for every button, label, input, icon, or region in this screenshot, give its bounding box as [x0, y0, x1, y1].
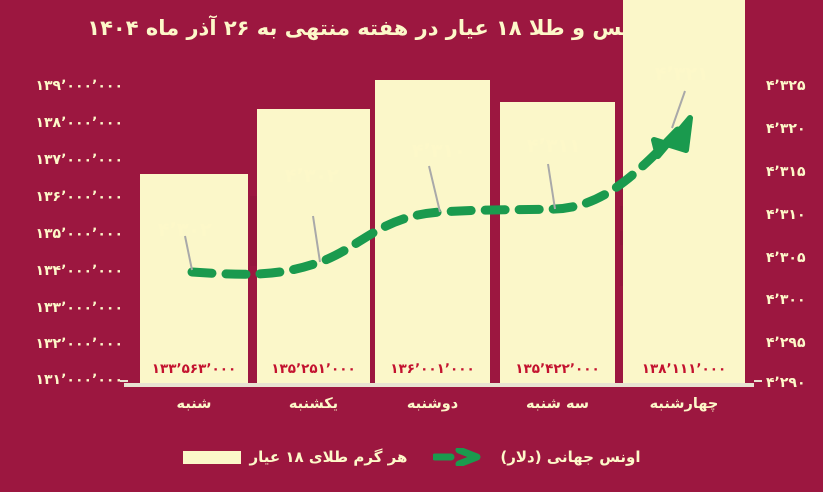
right-axis-tick-5: ۴٬۳۰۰ [766, 292, 806, 308]
legend-arrow-icon [433, 448, 491, 466]
axis-baseline [124, 383, 754, 387]
left-axis-tick-1: ۱۳۸٬۰۰۰٬۰۰۰ [35, 115, 123, 131]
left-axis-tick-0: ۱۳۹٬۰۰۰٬۰۰۰ [35, 78, 123, 94]
category-label-tuesday: سه شنبه [500, 396, 615, 412]
left-axis-tick-7: ۱۳۲٬۰۰۰٬۰۰۰ [35, 336, 123, 352]
left-axis-tick-4: ۱۳۵٬۰۰۰٬۰۰۰ [35, 226, 123, 242]
legend-arrowhead [459, 450, 477, 464]
legend-label-ounce: اونس جهانی (دلار) [500, 448, 640, 466]
left-axis-tick-5: ۱۳۴٬۰۰۰٬۰۰۰ [35, 263, 123, 279]
legend-item-ounce[interactable]: اونس جهانی (دلار) [433, 448, 640, 466]
right-axis-tick-1: ۴٬۳۲۰ [766, 121, 806, 137]
leader-line-tuesday [548, 164, 555, 209]
left-axis-tick-8: ۱۳۱٬۰۰۰٬۰۰۰ [35, 372, 123, 388]
category-label-wednesday: چهارشنبه [623, 396, 745, 412]
right-axis-tick-mark [754, 380, 762, 382]
left-axis-tick-3: ۱۳۶٬۰۰۰٬۰۰۰ [35, 189, 123, 205]
leader-line-wednesday [672, 91, 685, 128]
right-axis-tick-3: ۴٬۳۱۰ [766, 207, 806, 223]
line-value-label-monday: ۴٬۳۱۰ [412, 140, 466, 162]
category-label-saturday: شنبه [140, 396, 248, 412]
right-axis-tick-6: ۴٬۲۹۵ [766, 335, 806, 351]
legend-label-gold-gram: هر گرم طلای ۱۸ عیار [250, 448, 408, 466]
chart-screenshot: تغییرات اونس و طلا ۱۸ عیار در هفته منتهی… [0, 0, 823, 492]
legend-bar-swatch-icon [183, 451, 241, 464]
right-axis-tick-0: ۴٬۳۲۵ [766, 78, 806, 94]
line-value-label-tuesday: ۴٬۳۱۱ [527, 135, 581, 157]
right-axis-tick-2: ۴٬۳۱۵ [766, 164, 806, 180]
category-label-monday: دوشنبه [375, 396, 490, 412]
category-label-sunday: یکشنبه [257, 396, 370, 412]
right-axis-tick-7: ۴٬۲۹۰ [766, 375, 806, 391]
leader-line-monday [429, 166, 440, 212]
left-axis-tick-6: ۱۳۳٬۰۰۰٬۰۰۰ [35, 300, 123, 316]
left-axis-tick-2: ۱۳۷٬۰۰۰٬۰۰۰ [35, 152, 123, 168]
legend-item-gold-gram[interactable]: هر گرم طلای ۱۸ عیار [183, 448, 408, 466]
line-value-label-sunday: ۴٬۳۰۲ [285, 165, 339, 187]
right-axis-tick-4: ۴٬۳۰۵ [766, 250, 806, 266]
leader-lines [130, 76, 750, 383]
line-value-label-wednesday: ۴٬۳۲۱ [655, 63, 709, 85]
leader-line-sunday [313, 216, 320, 262]
plot-area: ۱۳۳٬۵۶۳٬۰۰۰ ۱۳۵٬۲۵۱٬۰۰۰ ۱۳۶٬۰۰۱٬۰۰۰ ۱۳۵٬… [130, 76, 750, 383]
legend-line-swatch-icon [433, 448, 491, 466]
chart-legend: هر گرم طلای ۱۸ عیار اونس جهانی (دلار) [0, 448, 823, 466]
leader-line-saturday [185, 236, 192, 270]
line-value-label-saturday: ۴٬۳۰۲ [158, 219, 212, 241]
left-axis-tick-mark [120, 380, 128, 382]
